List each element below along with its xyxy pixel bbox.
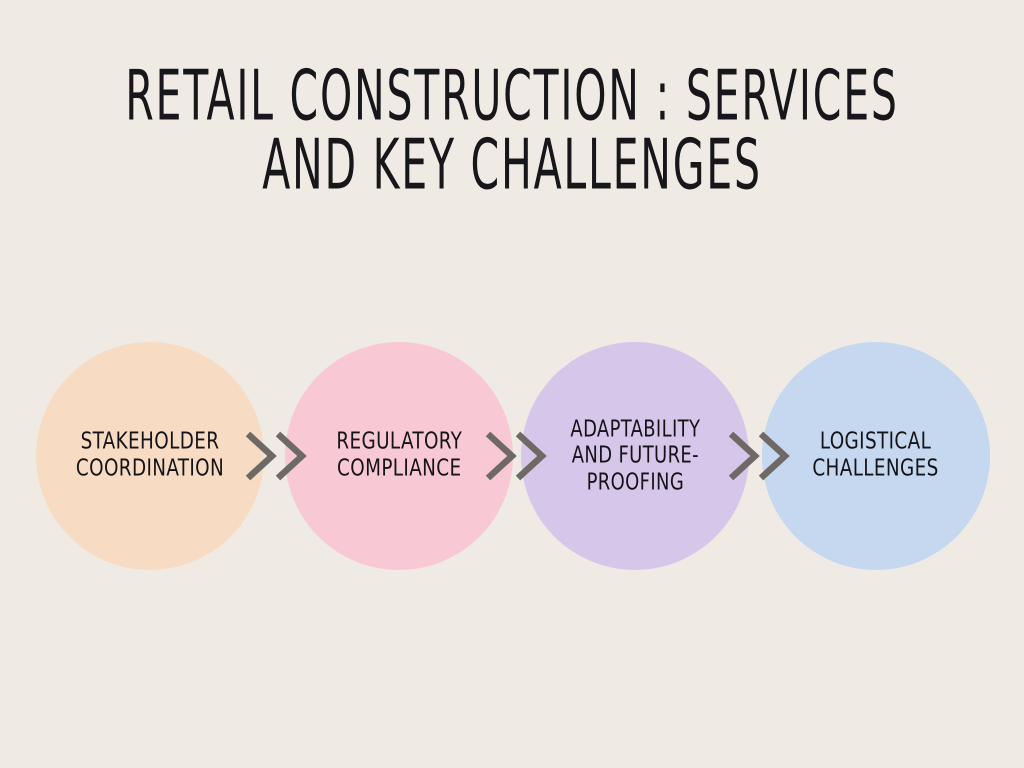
- flow-step-label: REGULATORY COMPLIANCE: [336, 429, 462, 483]
- page-title-line-1: RETAIL CONSTRUCTION : SERVICES: [102, 62, 921, 132]
- flow-step-stakeholder-coordination[interactable]: STAKEHOLDER COORDINATION: [36, 342, 264, 570]
- flow-step-logistical-challenges[interactable]: LOGISTICAL CHALLENGES: [762, 342, 990, 570]
- flow-step-label: LOGISTICAL CHALLENGES: [813, 429, 939, 483]
- slide-canvas: RETAIL CONSTRUCTION : SERVICES AND KEY C…: [0, 0, 1024, 768]
- page-title: RETAIL CONSTRUCTION : SERVICES AND KEY C…: [0, 62, 1024, 200]
- flow-step-regulatory-compliance[interactable]: REGULATORY COMPLIANCE: [285, 342, 513, 570]
- flow-step-label: ADAPTABILITY AND FUTURE- PROOFING: [570, 417, 700, 496]
- flow-step-label: STAKEHOLDER COORDINATION: [76, 429, 224, 483]
- flow-step-adaptability-and-future-proofing[interactable]: ADAPTABILITY AND FUTURE- PROOFING: [521, 342, 749, 570]
- process-flow-diagram: STAKEHOLDER COORDINATION REGULATORY COMP…: [0, 342, 1024, 570]
- page-title-line-2: AND KEY CHALLENGES: [102, 131, 921, 201]
